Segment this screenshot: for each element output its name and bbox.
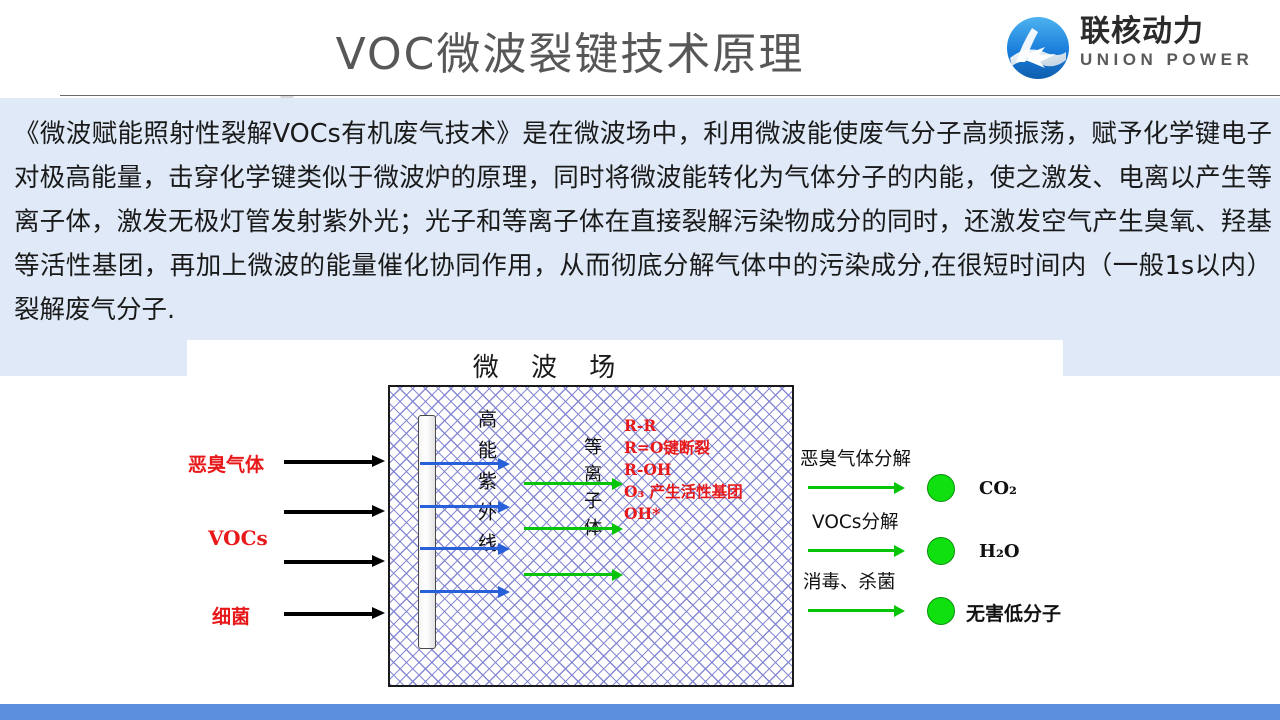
output-label-vocs-decompose: VOCs分解 xyxy=(812,508,898,534)
arrow-head-icon xyxy=(894,605,905,617)
arrow-shaft xyxy=(808,549,898,552)
arrow-shaft xyxy=(284,510,376,514)
uv-vertical-label: 高能紫外线 xyxy=(470,409,501,564)
title-divider xyxy=(60,95,1280,96)
electrodeless-uv-lamp-icon xyxy=(418,415,436,649)
description-paragraph: 《微波赋能照射性裂解VOCs有机废气技术》是在微波场中，利用微波能使废气分子高频… xyxy=(14,112,1272,332)
arrow-shaft xyxy=(420,547,502,550)
arrow-shaft xyxy=(420,462,502,465)
arrow-head-icon xyxy=(498,543,510,555)
arrow-shaft xyxy=(284,612,376,616)
microwave-field-caption: 微 波 场 xyxy=(420,347,680,384)
brand-logo: 联核动力 UNION POWER xyxy=(1004,12,1272,88)
arrow-shaft xyxy=(808,486,898,489)
arrow-head-icon xyxy=(498,458,510,470)
input-label-vocs: VOCs xyxy=(208,526,268,550)
arrow-head-icon xyxy=(612,523,623,535)
union-power-globe-icon xyxy=(1004,14,1072,82)
arrow-head-icon xyxy=(372,455,385,467)
arrow-shaft xyxy=(808,609,898,612)
arrow-shaft xyxy=(284,560,376,564)
arrow-head-icon xyxy=(612,569,623,581)
arrow-shaft xyxy=(420,505,502,508)
process-diagram: 微 波 场 恶臭气体 VOCs 细菌 高能紫外线 等离子体 xyxy=(0,340,1280,690)
output-label-odor-decompose: 恶臭气体分解 xyxy=(800,445,911,471)
input-label-odor-gas: 恶臭气体 xyxy=(188,450,264,477)
arrow-head-icon xyxy=(498,501,510,513)
logo-text: 联核动力 UNION POWER xyxy=(1080,16,1253,70)
page-title: VOC微波裂键技术原理 xyxy=(250,18,890,82)
product-label-harmless-molecules: 无害低分子 xyxy=(966,599,1061,626)
arrow-head-icon xyxy=(372,505,385,517)
arrow-shaft xyxy=(524,527,616,530)
formula-item: R=O键断裂 xyxy=(624,437,743,459)
arrow-shaft xyxy=(284,460,376,464)
arrow-shaft xyxy=(524,573,616,576)
chemical-formula-list: R-R R=O键断裂 R-OH O₃ 产生活性基团 OH* xyxy=(624,415,743,525)
formula-item: OH* xyxy=(624,503,743,525)
formula-item: O₃ 产生活性基团 xyxy=(624,481,743,503)
logo-name-cn: 联核动力 xyxy=(1080,16,1253,48)
product-label-h2o: H₂O xyxy=(979,541,1020,562)
arrow-shaft xyxy=(420,590,502,593)
microwave-chamber: 高能紫外线 等离子体 xyxy=(388,385,794,687)
arrow-head-icon xyxy=(498,586,510,598)
page-header: VOC微波裂键技术原理 xyxy=(0,0,1280,96)
product-dot-icon xyxy=(927,597,955,625)
product-dot-icon xyxy=(927,474,955,502)
formula-item: R-R xyxy=(624,415,743,437)
arrow-head-icon xyxy=(612,478,623,490)
logo-name-en: UNION POWER xyxy=(1080,50,1253,70)
formula-item: R-OH xyxy=(624,459,743,481)
arrow-head-icon xyxy=(372,607,385,619)
arrow-head-icon xyxy=(372,555,385,567)
footer-bar xyxy=(0,704,1280,720)
product-dot-icon xyxy=(927,537,955,565)
arrow-head-icon xyxy=(894,545,905,557)
product-label-co2: CO₂ xyxy=(979,478,1017,499)
output-label-sterilize: 消毒、杀菌 xyxy=(803,568,896,594)
input-label-bacteria: 细菌 xyxy=(212,602,250,629)
arrow-shaft xyxy=(524,482,616,485)
arrow-head-icon xyxy=(894,482,905,494)
